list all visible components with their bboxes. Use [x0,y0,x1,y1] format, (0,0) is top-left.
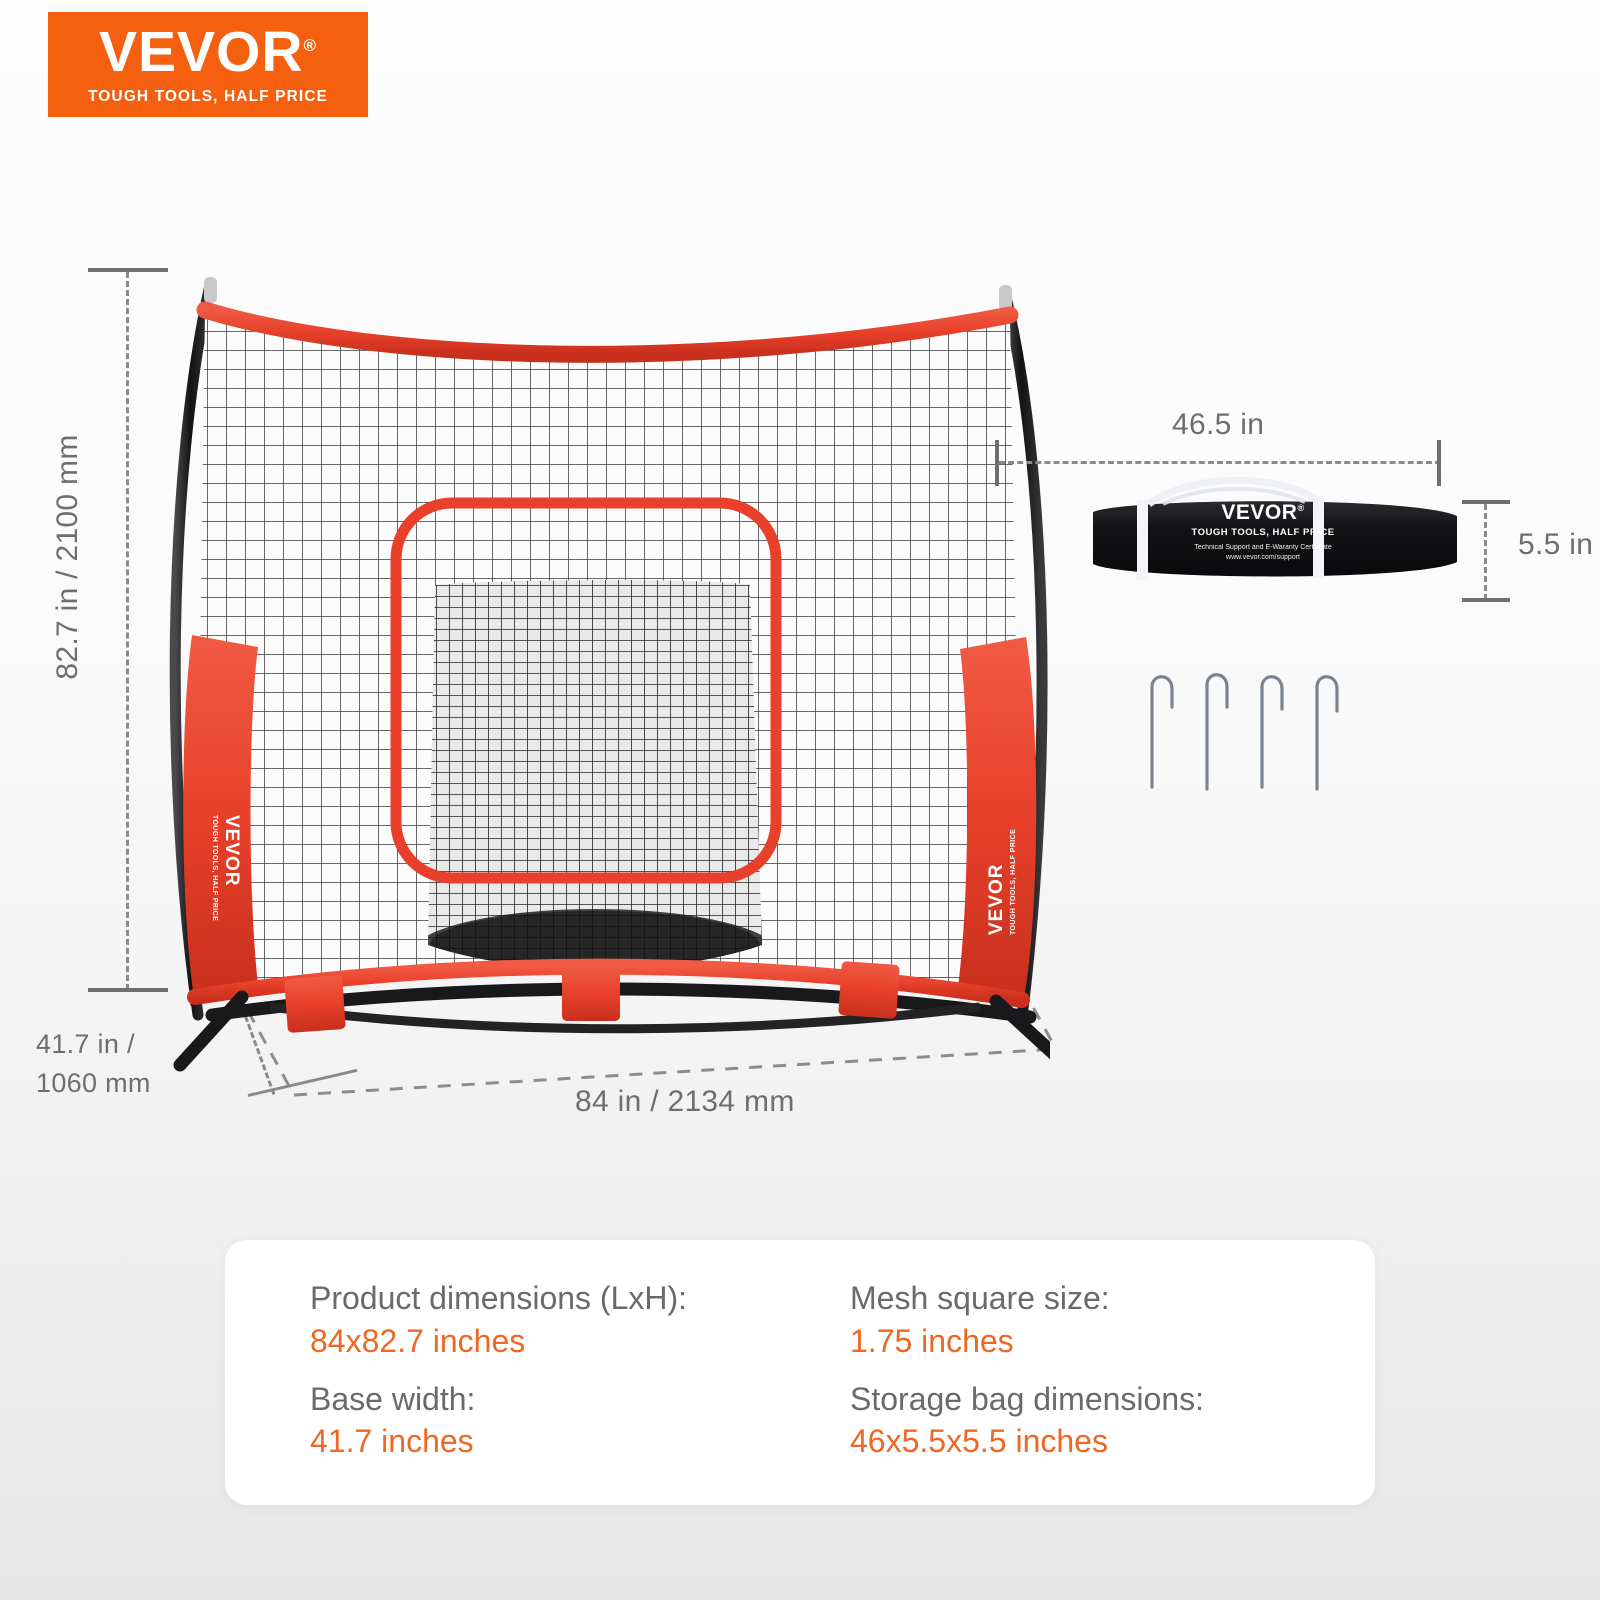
bag-support-line-1: Technical Support and E-Waranty Certific… [1163,543,1363,552]
bag-height-line [1484,504,1487,600]
bag-height-cap-bottom [1462,598,1510,602]
spec-value: 84x82.7 inches [310,1320,850,1363]
bag-length-line [999,461,1441,464]
vevor-logo: VEVOR® TOUGH TOOLS, HALF PRICE [48,12,368,117]
spec-label: Storage bag dimensions: [850,1379,1335,1421]
ground-stake [1207,675,1227,789]
spec-label: Mesh square size: [850,1278,1335,1320]
depth-dimension-label: 41.7 in / 1060 mm [36,1025,151,1103]
ground-stake [1317,677,1337,789]
width-dimension-label: 84 in / 2134 mm [575,1085,795,1119]
net-illustration: VEVOR TOUGH TOOLS, HALF PRICE VEVOR TOUG… [150,255,1050,1085]
logo-tagline: TOUGH TOOLS, HALF PRICE [88,88,328,106]
infographic-canvas: VEVOR® TOUGH TOOLS, HALF PRICE 82.7 in /… [0,0,1600,1600]
height-dim-line [126,272,129,990]
svg-text:VEVOR: VEVOR [986,863,1007,935]
depth-label-line1: 41.7 in / [36,1025,151,1064]
ground-stake [1262,677,1282,787]
depth-label-line2: 1060 mm [36,1064,151,1103]
bag-tagline: TOUGH TOOLS, HALF PRICE [1163,527,1363,538]
bag-support-line-2: www.vevor.com/support [1163,553,1363,562]
bag-height-label: 5.5 in [1518,528,1593,562]
bag-wordmark: VEVOR® [1163,502,1363,523]
spec-label: Product dimensions (LxH): [310,1278,850,1320]
spec-value: 1.75 inches [850,1320,1335,1363]
ground-stakes-group [1140,665,1370,810]
height-dimension-label: 82.7 in / 2100 mm [51,397,85,717]
spec-item-base-width: Base width: 41.7 inches [310,1379,850,1480]
svg-text:TOUGH TOOLS, HALF PRICE: TOUGH TOOLS, HALF PRICE [211,815,218,921]
svg-text:VEVOR: VEVOR [221,815,242,887]
net-catch-pocket [410,565,790,1001]
spec-label: Base width: [310,1379,850,1421]
specifications-card: Product dimensions (LxH): 84x82.7 inches… [225,1240,1375,1505]
spec-grid: Product dimensions (LxH): 84x82.7 inches… [310,1278,1335,1479]
spec-value: 41.7 inches [310,1420,850,1463]
ground-stake [1152,677,1172,787]
registered-mark: ® [304,36,318,55]
baseball-practice-net: VEVOR TOUGH TOOLS, HALF PRICE VEVOR TOUG… [150,255,1050,1085]
bag-length-label: 46.5 in [1172,408,1264,442]
storage-bag: VEVOR® TOUGH TOOLS, HALF PRICE Technical… [1085,470,1465,600]
logo-wordmark: VEVOR® [99,24,317,81]
spec-item-product-dimensions: Product dimensions (LxH): 84x82.7 inches [310,1278,850,1379]
spec-value: 46x5.5x5.5 inches [850,1420,1335,1463]
svg-text:TOUGH TOOLS, HALF PRICE: TOUGH TOOLS, HALF PRICE [1010,829,1017,935]
bag-print-block: VEVOR® TOUGH TOOLS, HALF PRICE Technical… [1163,502,1363,563]
spec-item-storage-bag-dimensions: Storage bag dimensions: 46x5.5x5.5 inche… [850,1379,1335,1480]
spec-item-mesh-square-size: Mesh square size: 1.75 inches [850,1278,1335,1379]
